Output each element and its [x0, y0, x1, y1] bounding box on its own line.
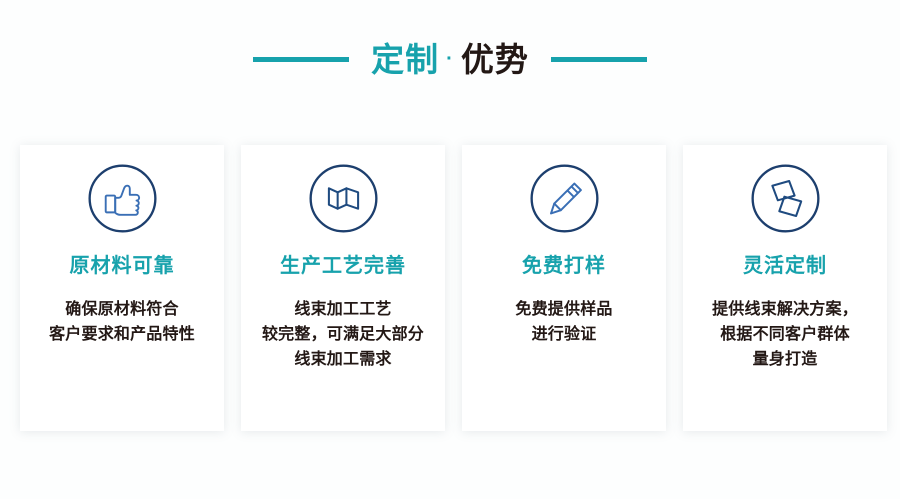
page-title: 定制 · 优势 — [371, 43, 529, 76]
card-description-line: 提供线束解决方案， — [687, 297, 883, 322]
advantage-card[interactable]: 原材料可靠 确保原材料符合 客户要求和产品特性 — [20, 145, 224, 431]
title-main-text: 优势 — [461, 43, 529, 76]
card-description-line: 客户要求和产品特性 — [24, 322, 220, 347]
advantage-cards-row: 原材料可靠 确保原材料符合 客户要求和产品特性 生产工艺完善 线束加工工艺 较完… — [20, 145, 887, 431]
card-description: 线束加工工艺 较完整，可满足大部分 线束加工需求 — [245, 297, 441, 372]
advantage-card[interactable]: 生产工艺完善 线束加工工艺 较完整，可满足大部分 线束加工需求 — [241, 145, 445, 431]
card-description-line: 进行验证 — [466, 322, 662, 347]
card-description-line: 确保原材料符合 — [24, 297, 220, 322]
folded-map-icon — [307, 162, 380, 235]
title-rule-left — [253, 57, 349, 62]
title-accent-text: 定制 — [371, 43, 439, 76]
card-description-line: 根据不同客户群体 — [687, 322, 883, 347]
card-description-line: 线束加工工艺 — [245, 297, 441, 322]
stacked-sheets-icon — [749, 162, 822, 235]
section-title: 定制 · 优势 — [0, 30, 900, 88]
card-title: 原材料可靠 — [70, 256, 175, 276]
advantage-card[interactable]: 灵活定制 提供线束解决方案， 根据不同客户群体 量身打造 — [683, 145, 887, 431]
card-description: 免费提供样品 进行验证 — [466, 297, 662, 347]
card-description: 确保原材料符合 客户要求和产品特性 — [24, 297, 220, 347]
card-title: 灵活定制 — [743, 256, 827, 276]
thumbs-up-icon — [86, 162, 159, 235]
card-description: 提供线束解决方案， 根据不同客户群体 量身打造 — [687, 297, 883, 372]
card-title: 生产工艺完善 — [280, 256, 406, 276]
title-separator-dot: · — [439, 49, 461, 69]
card-description-line: 线束加工需求 — [245, 347, 441, 372]
card-title: 免费打样 — [522, 256, 606, 276]
card-description-line: 免费提供样品 — [466, 297, 662, 322]
pencil-icon — [528, 162, 601, 235]
card-description-line: 较完整，可满足大部分 — [245, 322, 441, 347]
card-description-line: 量身打造 — [687, 347, 883, 372]
advantage-card[interactable]: 免费打样 免费提供样品 进行验证 — [462, 145, 666, 431]
title-rule-right — [551, 57, 647, 62]
